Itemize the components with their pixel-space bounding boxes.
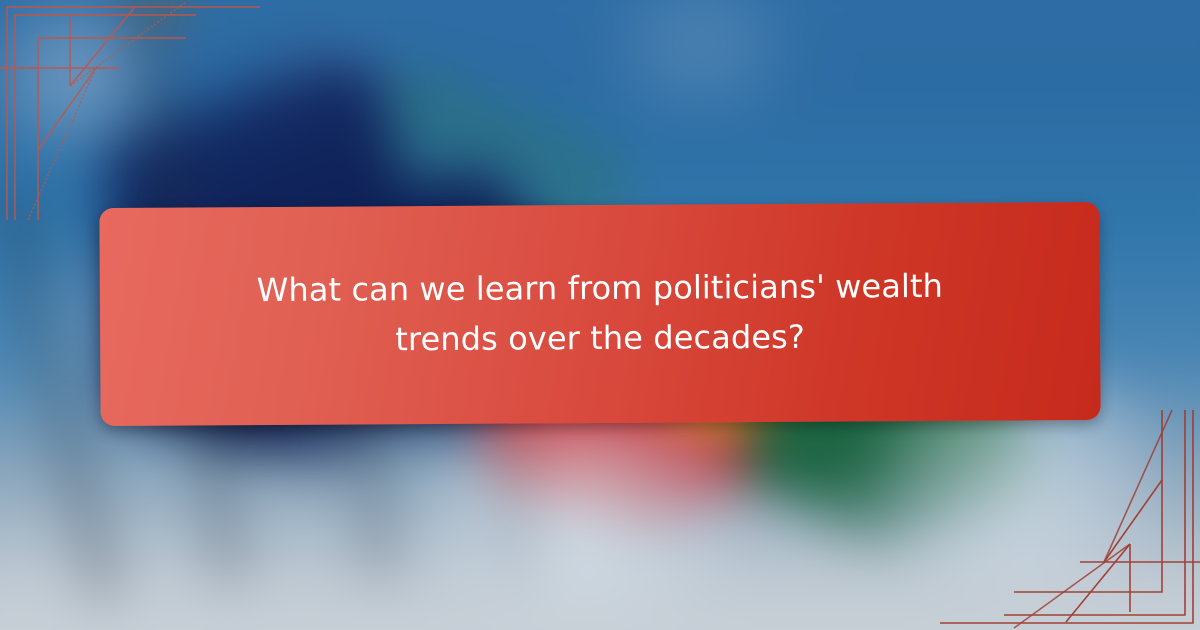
cloud-shape <box>370 410 790 610</box>
page-title: What can we learn from politicians' weal… <box>150 262 1051 367</box>
headline-card: What can we learn from politicians' weal… <box>99 202 1100 426</box>
og-image-canvas: What can we learn from politicians' weal… <box>0 0 1200 630</box>
